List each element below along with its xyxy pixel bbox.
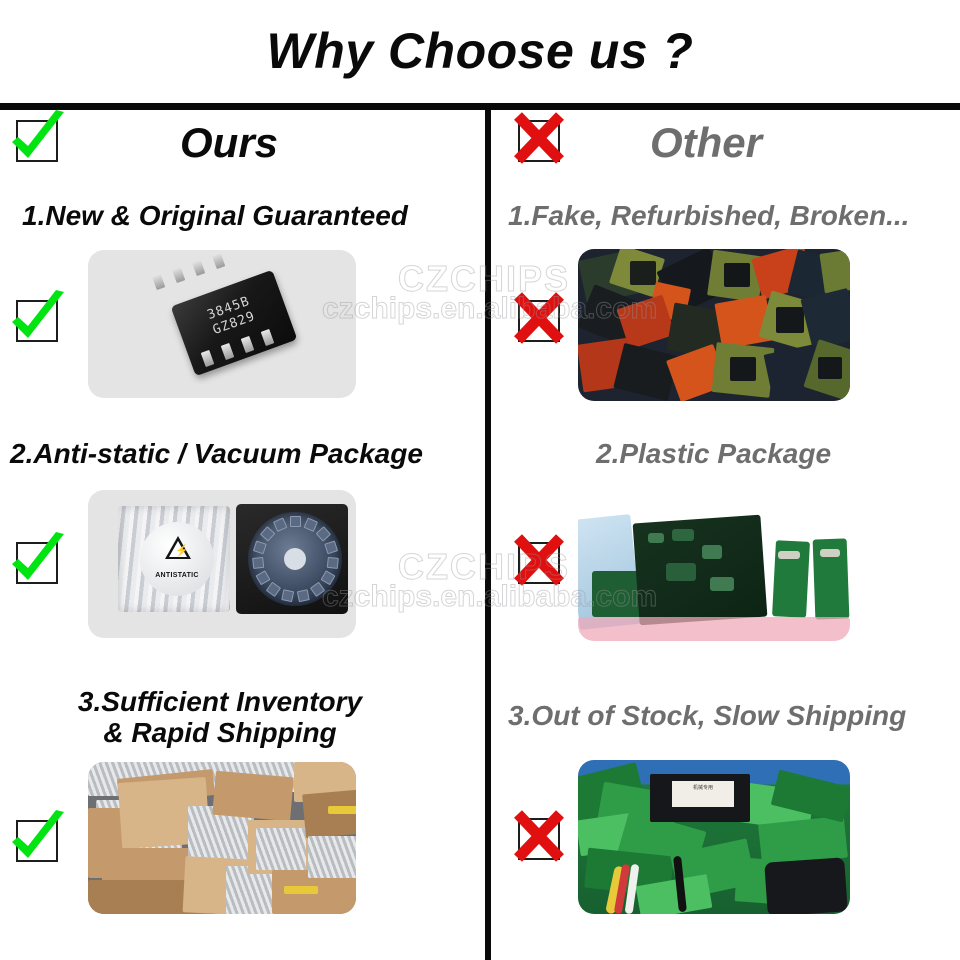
why-choose-us-infographic: Why Choose us ? Ours Other 1.New & Origi… (0, 0, 960, 960)
check-icon-row-1 (6, 298, 60, 346)
feature-heading-other-1: 1.Fake, Refurbished, Broken... (508, 200, 909, 231)
esd-warning-disc: ⚡ ANTISTATIC (140, 522, 214, 596)
esd-bag: ⚡ ANTISTATIC (118, 506, 230, 612)
cross-glyph (508, 288, 570, 350)
header-divider (0, 103, 960, 110)
photo-inventory-boxes (88, 762, 356, 914)
column-header-ours: Ours (180, 112, 278, 174)
cross-glyph (508, 806, 570, 868)
feature-heading-ours-1: 1.New & Original Guaranteed (22, 200, 408, 231)
column-header-other: Other (650, 112, 762, 174)
check-glyph (6, 808, 68, 870)
feature-heading-ours-3-line1: 3.Sufficient Inventory (78, 686, 362, 717)
cross-glyph (508, 108, 570, 170)
cross-icon-row-3 (508, 816, 562, 864)
check-icon-header-ours (6, 118, 60, 166)
cross-glyph (508, 530, 570, 592)
photo-scrap-chips-pile (578, 249, 850, 401)
check-glyph (6, 530, 68, 592)
check-glyph (6, 108, 68, 170)
page-title: Why Choose us ? (0, 22, 960, 80)
lightning-bolt-icon: ⚡ (175, 546, 189, 557)
antistatic-label: ANTISTATIC (140, 572, 214, 579)
cross-icon-row-1 (508, 298, 562, 346)
black-module: 机械专用 (650, 774, 750, 822)
reel-box (236, 504, 348, 614)
cross-icon-row-2 (508, 540, 562, 588)
check-icon-row-3 (6, 818, 60, 866)
feature-heading-other-2: 2.Plastic Package (596, 438, 831, 469)
photo-antistatic-vacuum-package: ⚡ ANTISTATIC (88, 490, 356, 638)
photo-green-scrap-pcb: 机械专用 (578, 760, 850, 914)
check-glyph (6, 288, 68, 350)
chip-body: 3845B GZ829 (171, 270, 298, 376)
cross-icon-header-other (508, 118, 562, 166)
feature-heading-other-3: 3.Out of Stock, Slow Shipping (508, 700, 906, 731)
photo-new-original-chip: 3845B GZ829 (88, 250, 356, 398)
feature-heading-ours-2: 2.Anti-static / Vacuum Package (10, 438, 423, 469)
tape-reel (248, 512, 342, 606)
feature-heading-ours-3-line2: & Rapid Shipping (103, 717, 336, 748)
feature-heading-ours-3: 3.Sufficient Inventory & Rapid Shipping (40, 686, 400, 749)
module-label: 机械专用 (672, 781, 734, 807)
column-divider (485, 108, 491, 960)
check-icon-row-2 (6, 540, 60, 588)
photo-plastic-package (578, 489, 850, 641)
